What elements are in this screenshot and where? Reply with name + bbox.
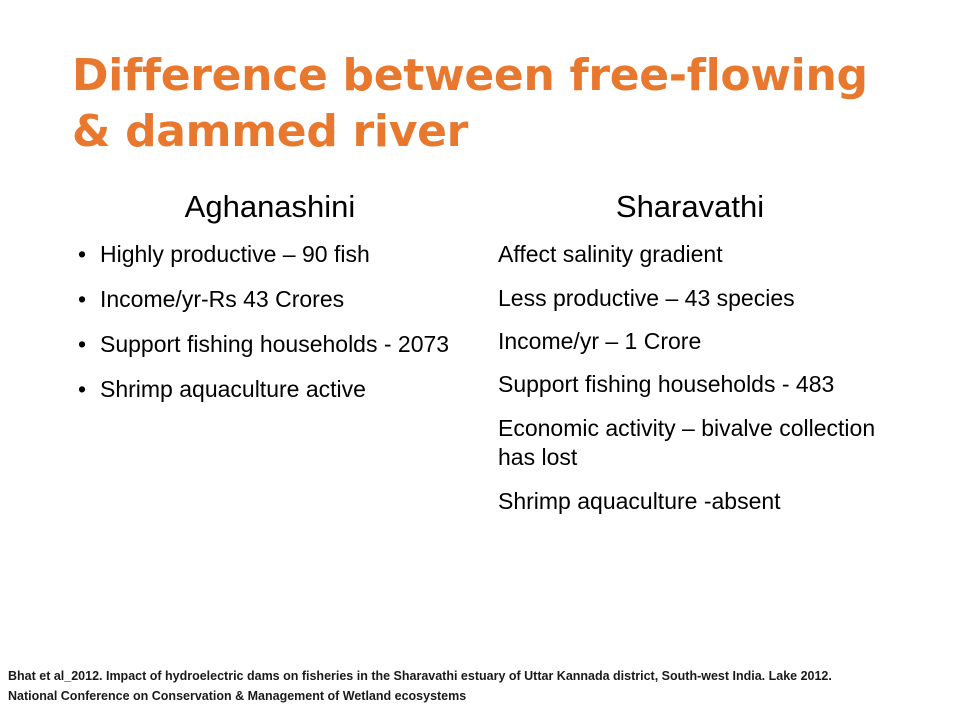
column-sharavathi: Sharavathi Affect salinity gradient Less… (490, 190, 890, 530)
slide-canvas: Difference between free-flowing & dammed… (0, 0, 960, 720)
bullet-list-sharavathi: Affect salinity gradient Less productive… (490, 240, 890, 516)
list-item: • Highly productive – 90 fish (70, 240, 470, 270)
bullet-dot-icon: • (78, 375, 86, 405)
bullet-dot-icon: • (78, 240, 86, 270)
column-aghanashini: Aghanashini • Highly productive – 90 fis… (70, 190, 470, 420)
list-item-label: Shrimp aquaculture active (100, 376, 366, 402)
bullet-dot-icon: • (78, 285, 86, 315)
list-item: Less productive – 43 species (490, 284, 890, 313)
list-item-label: Income/yr-Rs 43 Crores (100, 286, 344, 312)
list-item: • Income/yr-Rs 43 Crores (70, 285, 470, 315)
column-header-aghanashini: Aghanashini (70, 190, 470, 224)
footer-citation: Bhat et al_2012. Impact of hydroelectric… (8, 666, 952, 707)
list-item-label: Highly productive – 90 fish (100, 241, 370, 267)
column-header-sharavathi: Sharavathi (490, 190, 890, 224)
list-item: Support fishing households - 483 (490, 370, 890, 399)
two-column-body: Aghanashini • Highly productive – 90 fis… (0, 190, 960, 610)
page-title: Difference between free-flowing & dammed… (72, 48, 922, 161)
list-item: • Support fishing households - 2073 (70, 330, 470, 360)
list-item: • Shrimp aquaculture active (70, 375, 470, 405)
list-item: Affect salinity gradient (490, 240, 890, 269)
list-item: Economic activity – bivalve collection h… (490, 414, 890, 473)
list-item-label: Support fishing households - 2073 (100, 331, 449, 357)
list-item: Income/yr – 1 Crore (490, 327, 890, 356)
list-item: Shrimp aquaculture -absent (490, 487, 890, 516)
bullet-dot-icon: • (78, 330, 86, 360)
bullet-list-aghanashini: • Highly productive – 90 fish • Income/y… (70, 240, 470, 405)
